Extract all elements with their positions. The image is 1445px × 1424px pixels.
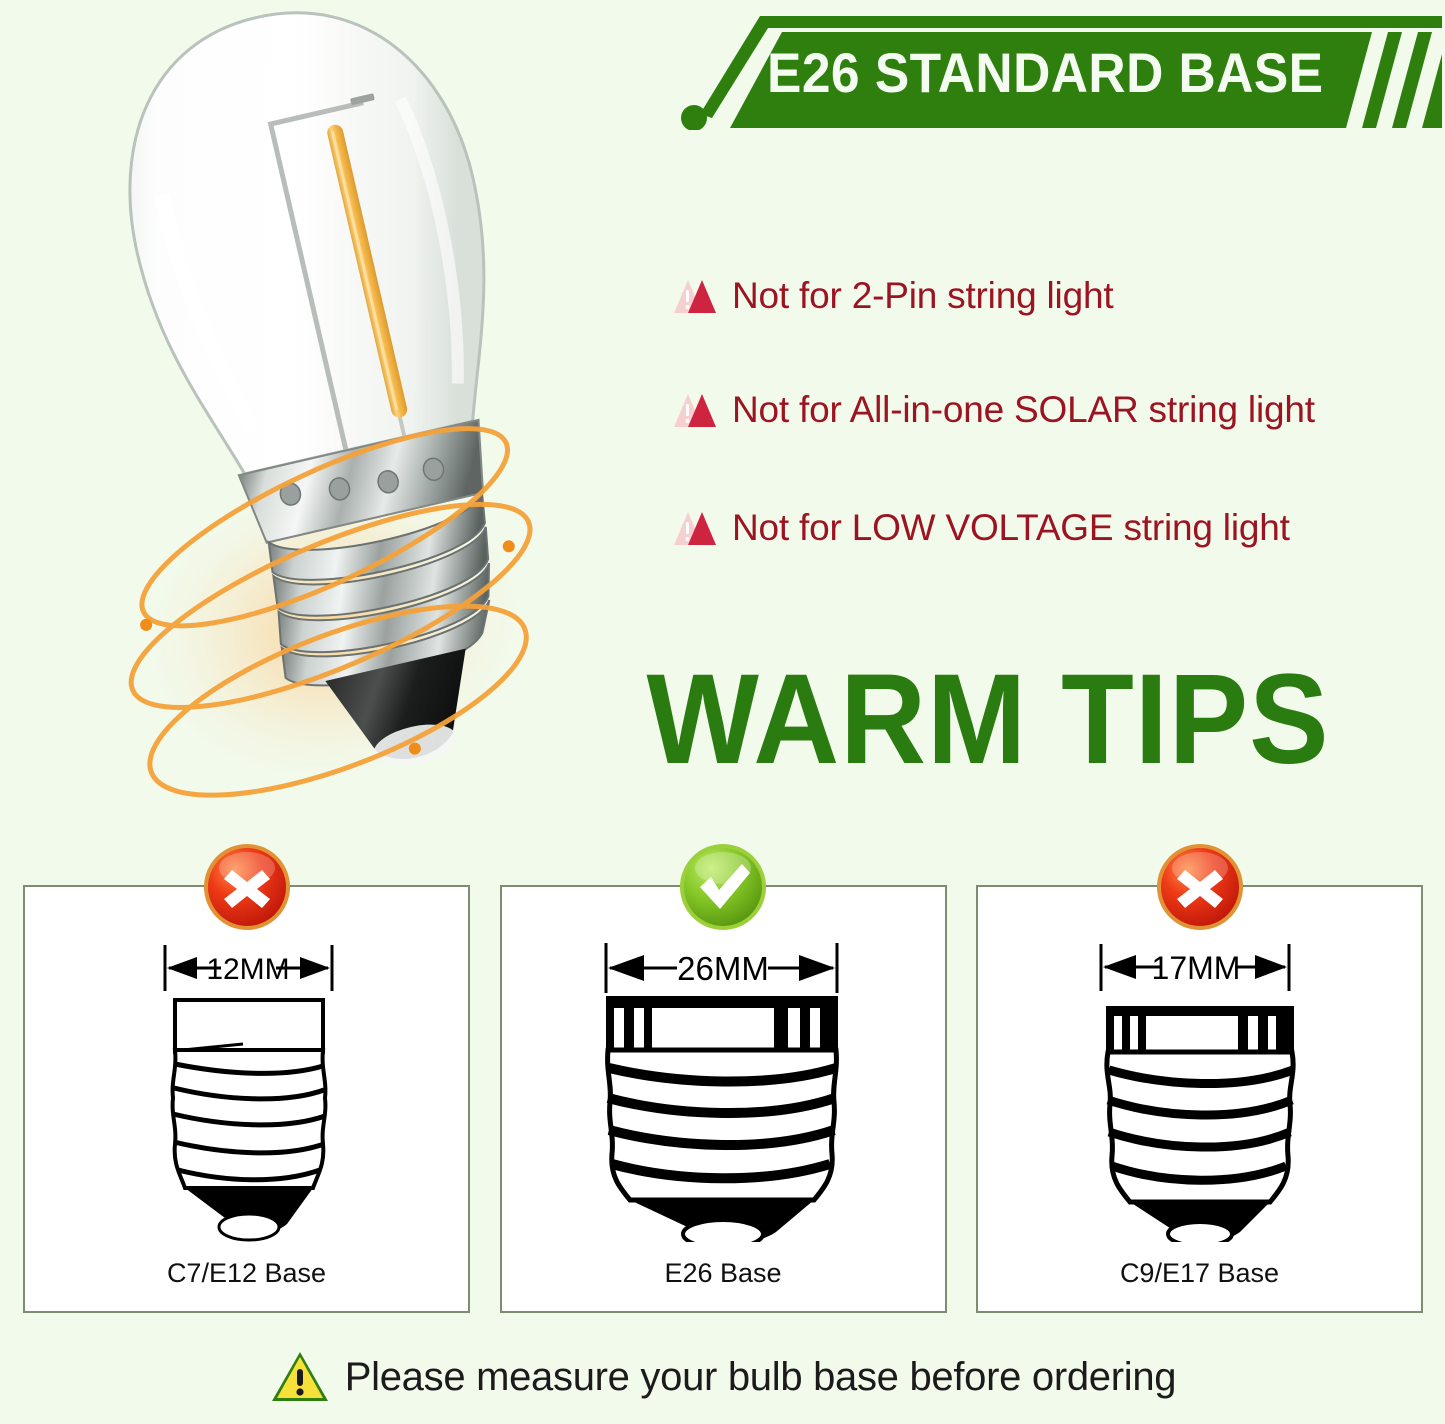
warning-label: Not for All-in-one SOLAR string light bbox=[732, 389, 1315, 431]
product-bulb-image bbox=[30, 0, 650, 810]
base-card-e12: 12MM bbox=[23, 885, 470, 1313]
bulb-base-diagram-e17 bbox=[978, 992, 1421, 1242]
warm-tips-heading: WARM TIPS bbox=[574, 655, 1402, 785]
warning-label: Not for LOW VOLTAGE string light bbox=[732, 507, 1290, 549]
red-x-badge bbox=[202, 842, 292, 932]
dimension-label: 12MM bbox=[206, 953, 289, 986]
warning-row: Not for 2-Pin string light bbox=[672, 272, 1113, 320]
footer-note: Please measure your bulb base before ord… bbox=[0, 1340, 1445, 1414]
infographic-page: E26 STANDARD BASE Not for 2-Pin string l… bbox=[0, 0, 1445, 1424]
banner-title: E26 STANDARD BASE bbox=[767, 38, 1337, 108]
dimension-measure-e26: 26MM bbox=[502, 939, 945, 999]
red-x-badge bbox=[1155, 842, 1245, 932]
warning-row: Not for LOW VOLTAGE string light bbox=[672, 504, 1290, 552]
banner-dot bbox=[681, 105, 707, 130]
card-label: C9/E17 Base bbox=[978, 1258, 1421, 1289]
green-check-badge bbox=[678, 842, 768, 932]
dimension-measure-e12: 12MM bbox=[25, 939, 468, 999]
footer-label: Please measure your bulb base before ord… bbox=[345, 1355, 1176, 1400]
header-banner: E26 STANDARD BASE bbox=[672, 10, 1442, 130]
base-card-e17: 17MM bbox=[976, 885, 1423, 1313]
bulb-base-diagram-e26 bbox=[502, 992, 945, 1242]
card-label: E26 Base bbox=[502, 1258, 945, 1289]
card-label: C7/E12 Base bbox=[25, 1258, 468, 1289]
warning-triangle-icon bbox=[672, 390, 718, 430]
dimension-label: 26MM bbox=[677, 950, 769, 987]
bulb-base-diagram-e12 bbox=[25, 992, 468, 1242]
warning-triangle-icon bbox=[672, 508, 718, 548]
warning-label: Not for 2-Pin string light bbox=[732, 275, 1113, 317]
base-card-e26: 26MM bbox=[500, 885, 947, 1313]
warning-row: Not for All-in-one SOLAR string light bbox=[672, 386, 1315, 434]
dimension-label: 17MM bbox=[1152, 950, 1241, 986]
dimension-measure-e17: 17MM bbox=[978, 939, 1421, 999]
base-comparison-cards: 12MM bbox=[23, 885, 1423, 1315]
bulb-glass bbox=[92, 0, 527, 486]
warning-triangle-icon bbox=[672, 276, 718, 316]
caution-triangle-icon bbox=[269, 1349, 331, 1405]
